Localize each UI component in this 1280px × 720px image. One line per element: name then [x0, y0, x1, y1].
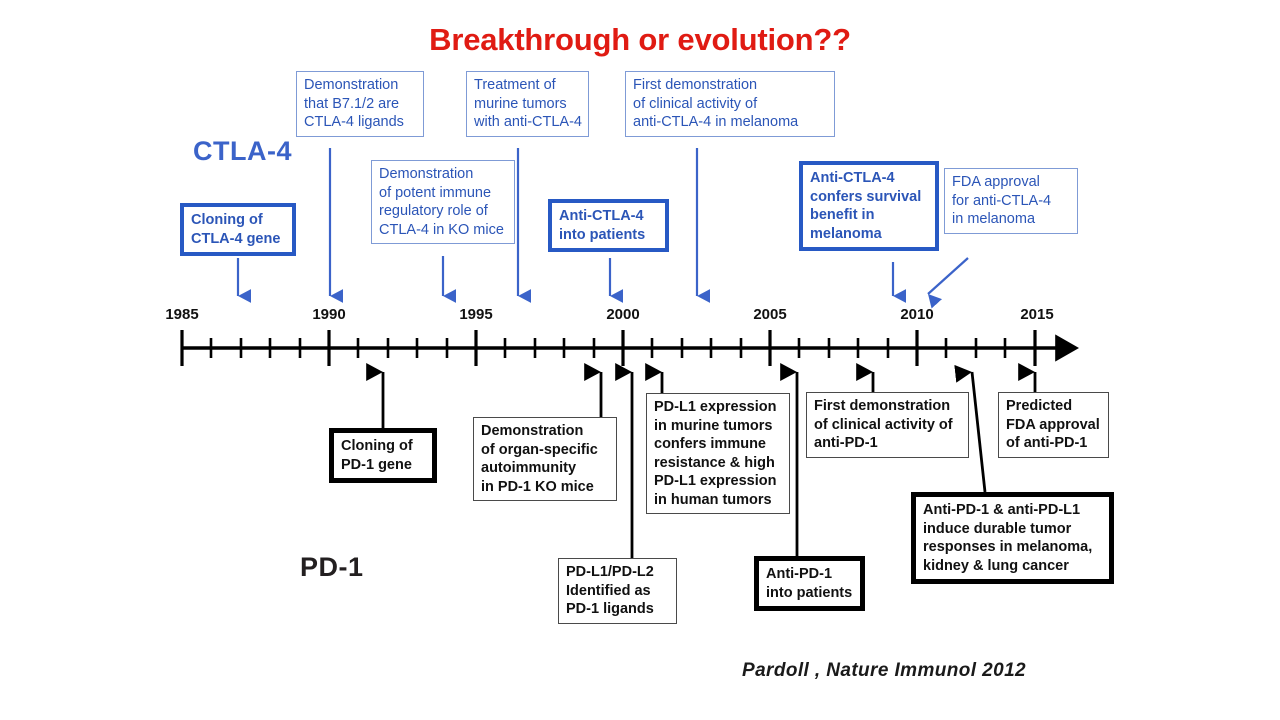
slide-canvas: Breakthrough or evolution?? CTLA-4 PD-1 — [0, 0, 1280, 720]
event-box-ko-mice[interactable]: Demonstration of potent immune regulator… — [371, 160, 515, 244]
timeline-axis — [182, 330, 1062, 366]
event-box-anti-pd1-patients[interactable]: Anti-PD-1 into patients — [754, 556, 865, 611]
event-box-b7-ligands[interactable]: Demonstration that B7.1/2 are CTLA-4 lig… — [296, 71, 424, 137]
page-title: Breakthrough or evolution?? — [0, 22, 1280, 58]
event-box-first-clinical-activity[interactable]: First demonstration of clinical activity… — [625, 71, 835, 137]
section-label-ctla4: CTLA-4 — [193, 136, 292, 167]
event-box-survival-benefit[interactable]: Anti-CTLA-4 confers survival benefit in … — [799, 161, 939, 251]
year-label-2015: 2015 — [1020, 306, 1053, 323]
event-box-anti-ctla4-patients[interactable]: Anti-CTLA-4 into patients — [548, 199, 669, 252]
year-label-1985: 1985 — [165, 306, 198, 323]
section-label-pd1: PD-1 — [300, 552, 364, 583]
year-label-1995: 1995 — [459, 306, 492, 323]
citation-text: Pardoll , Nature Immunol 2012 — [742, 660, 1026, 682]
year-label-1990: 1990 — [312, 306, 345, 323]
event-box-murine-tumors[interactable]: Treatment of murine tumors with anti-CTL… — [466, 71, 589, 137]
event-box-cloning-pd1[interactable]: Cloning of PD-1 gene — [329, 428, 437, 483]
event-box-pdl1-pdl2-ligands[interactable]: PD-L1/PD-L2 Identified as PD-1 ligands — [558, 558, 677, 624]
year-label-2005: 2005 — [753, 306, 786, 323]
event-box-cloning-ctla4[interactable]: Cloning of CTLA-4 gene — [180, 203, 296, 256]
event-box-durable-responses[interactable]: Anti-PD-1 & anti-PD-L1 induce durable tu… — [911, 492, 1114, 584]
event-box-first-clinical-activity-pd1[interactable]: First demonstration of clinical activity… — [806, 392, 969, 458]
event-box-pdl1-expression[interactable]: PD-L1 expression in murine tumors confer… — [646, 393, 790, 514]
year-label-2010: 2010 — [900, 306, 933, 323]
event-box-organ-specific-autoimmunity[interactable]: Demonstration of organ-specific autoimmu… — [473, 417, 617, 501]
event-box-fda-approval-ctla4[interactable]: FDA approval for anti-CTLA-4 in melanoma — [944, 168, 1078, 234]
year-label-2000: 2000 — [606, 306, 639, 323]
event-box-predicted-fda-approval[interactable]: Predicted FDA approval of anti-PD-1 — [998, 392, 1109, 458]
